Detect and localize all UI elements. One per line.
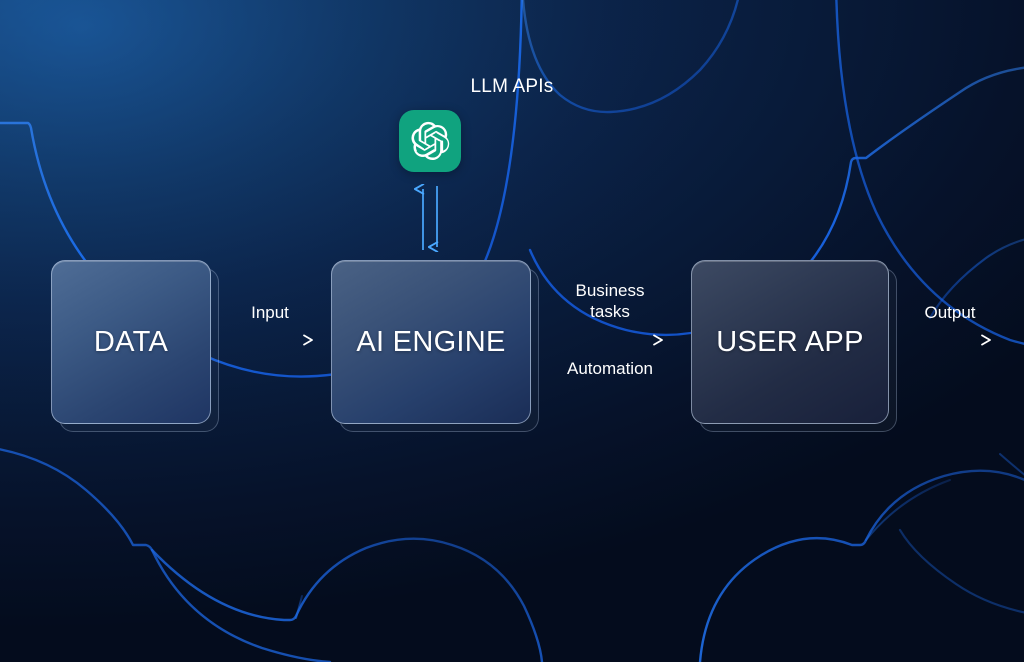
label-input: Input [222,303,318,324]
label-business-tasks-line1: Business [536,281,684,302]
llm-apis-title: LLM APIs [0,76,1024,98]
arrow-userapp-to-output [906,332,992,348]
node-ai-engine-label: AI ENGINE [356,326,505,359]
openai-glyph [409,120,451,162]
label-business-tasks-line2: tasks [536,302,684,323]
node-user-app[interactable]: USER APP [691,260,889,424]
arrow-data-to-engine [228,332,314,348]
label-automation: Automation [536,359,684,380]
node-data-face: DATA [51,260,211,424]
node-data[interactable]: DATA [51,260,211,424]
openai-logo-icon[interactable] [399,110,461,172]
node-data-label: DATA [94,326,168,359]
arrow-engine-llm-bidirectional [406,184,454,252]
node-user-app-label: USER APP [716,326,863,359]
label-output: Output [900,303,1000,324]
label-business-tasks: Business tasks [536,281,684,322]
node-ai-engine[interactable]: AI ENGINE [331,260,531,424]
arrow-engine-to-userapp [556,332,664,348]
diagram-canvas: LLM APIs DATA Input [0,0,1024,662]
node-user-app-face: USER APP [691,260,889,424]
node-ai-engine-face: AI ENGINE [331,260,531,424]
